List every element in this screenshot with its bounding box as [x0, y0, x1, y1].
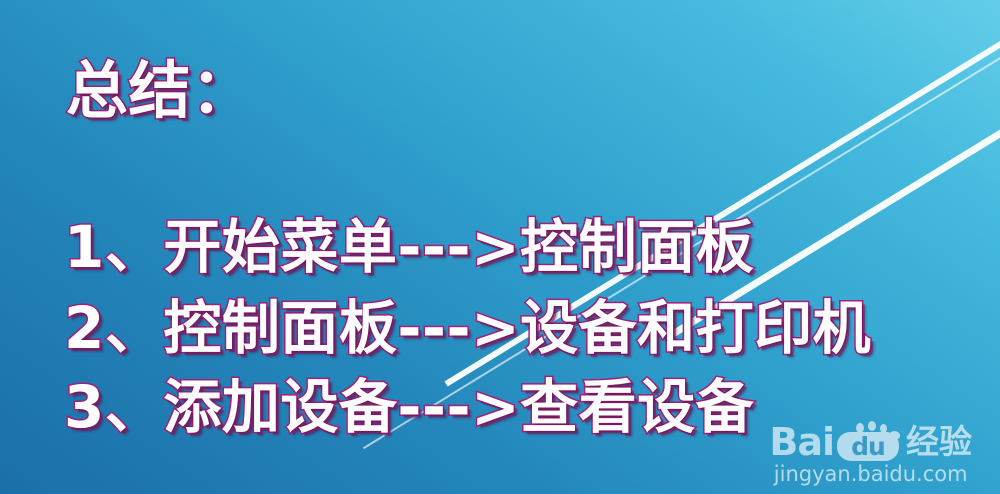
summary-step-3: 3、添加设备--->查看设备: [64, 360, 754, 444]
baidu-bear-body: [837, 432, 899, 461]
baidu-logo-jingyan-text: 经验: [906, 423, 972, 461]
slide-canvas: 总结： 1、开始菜单--->控制面板 2、控制面板--->设备和打印机 3、添加…: [0, 0, 1000, 494]
slide-title: 总结：: [66, 40, 254, 130]
paw-dot-icon: [856, 423, 864, 433]
paw-dot-icon: [889, 431, 900, 440]
summary-step-2: 2、控制面板--->设备和打印机: [64, 281, 871, 365]
paw-dot-icon: [880, 424, 887, 433]
baidu-jingyan-watermark: Bai du 经验 jingyan.baidu.com: [769, 421, 972, 486]
baidu-logo-bai-text: Bai: [769, 423, 834, 461]
summary-step-1: 1、开始菜单--->控制面板: [64, 200, 754, 284]
baidu-logo-du-text: du: [837, 432, 899, 461]
baidu-logo: Bai du 经验: [769, 421, 972, 461]
watermark-url: jingyan.baidu.com: [769, 462, 972, 486]
baidu-bear-paw-icon: du: [837, 421, 899, 461]
paw-dot-icon: [868, 421, 876, 431]
